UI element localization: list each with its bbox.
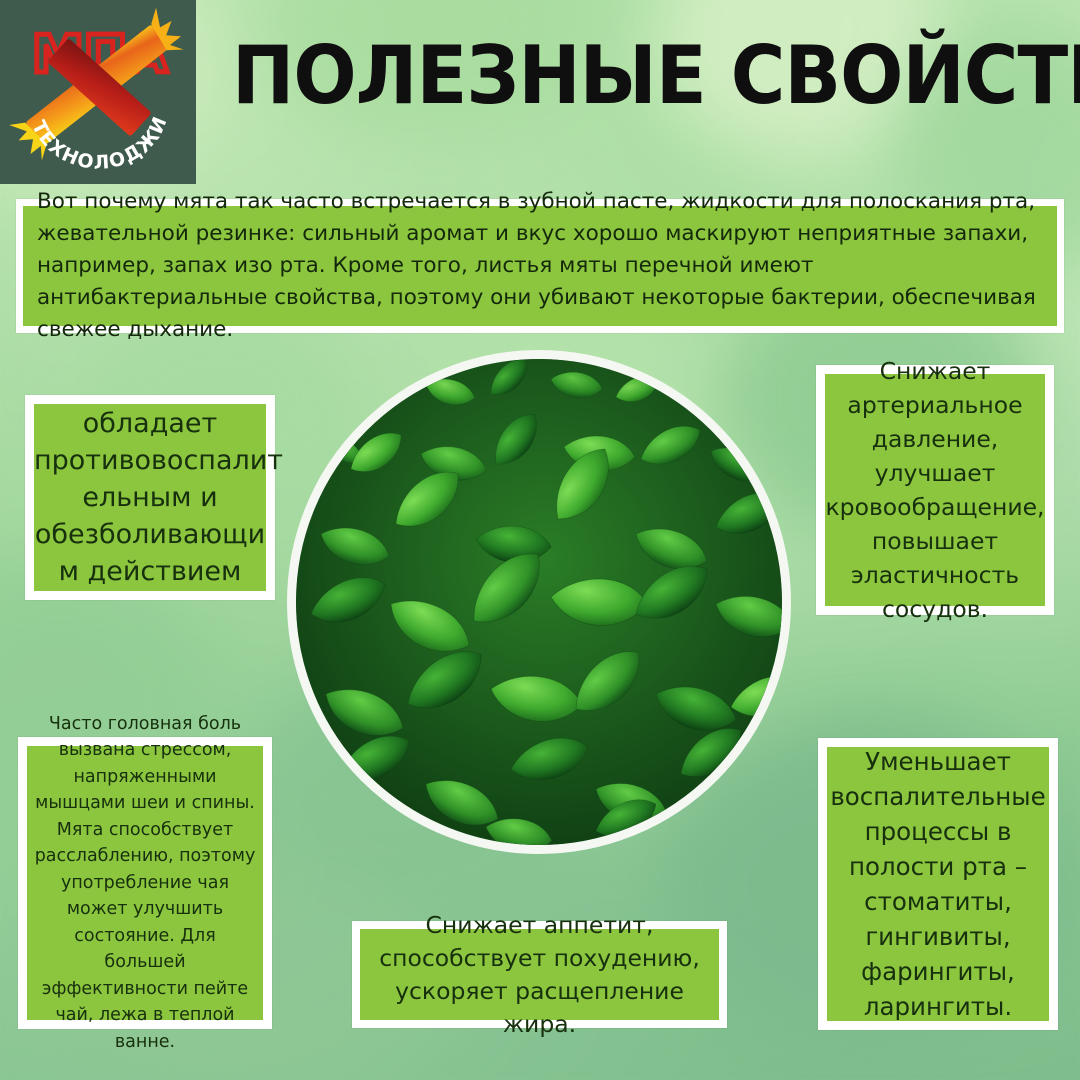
mint-leaves-illustration bbox=[296, 359, 782, 845]
brand-logo-plate[interactable]: МПА ТЕХНОЛОДЖИ bbox=[0, 0, 196, 184]
mint-plant-photo bbox=[287, 350, 791, 854]
benefit-box-oral-inflammation: Уменьшает воспалительные процессы в поло… bbox=[818, 738, 1058, 1030]
logo-arc-text: ТЕХНОЛОДЖИ bbox=[27, 113, 172, 174]
benefit-text-appetite: Снижает аппетит, способствует похудению,… bbox=[360, 907, 719, 1043]
benefit-text-anti-inflammatory: обладает противовоспалит ельным и обезбо… bbox=[28, 403, 272, 592]
intro-text-box: Вот почему мята так часто встречается в … bbox=[16, 199, 1064, 333]
benefit-text-headache: Часто головная боль вызвана стрессом, на… bbox=[27, 709, 263, 1058]
benefit-text-blood-pressure: Снижает артериальное давление, улучшает … bbox=[819, 352, 1050, 628]
benefit-box-headache: Часто головная боль вызвана стрессом, на… bbox=[18, 737, 272, 1029]
intro-text: Вот почему мята так часто встречается в … bbox=[23, 186, 1057, 346]
brand-logo-mark: МПА ТЕХНОЛОДЖИ bbox=[0, 0, 196, 184]
benefit-text-oral-inflammation: Уменьшает воспалительные процессы в поло… bbox=[824, 742, 1051, 1026]
benefit-box-blood-pressure: Снижает артериальное давление, улучшает … bbox=[816, 365, 1054, 615]
benefit-box-anti-inflammatory: обладает противовоспалит ельным и обезбо… bbox=[25, 395, 275, 600]
page-title: ПОЛЕЗНЫЕ СВОЙСТВА bbox=[232, 28, 1013, 124]
mint-photo-inner bbox=[296, 359, 782, 845]
benefit-box-appetite: Снижает аппетит, способствует похудению,… bbox=[352, 921, 727, 1028]
